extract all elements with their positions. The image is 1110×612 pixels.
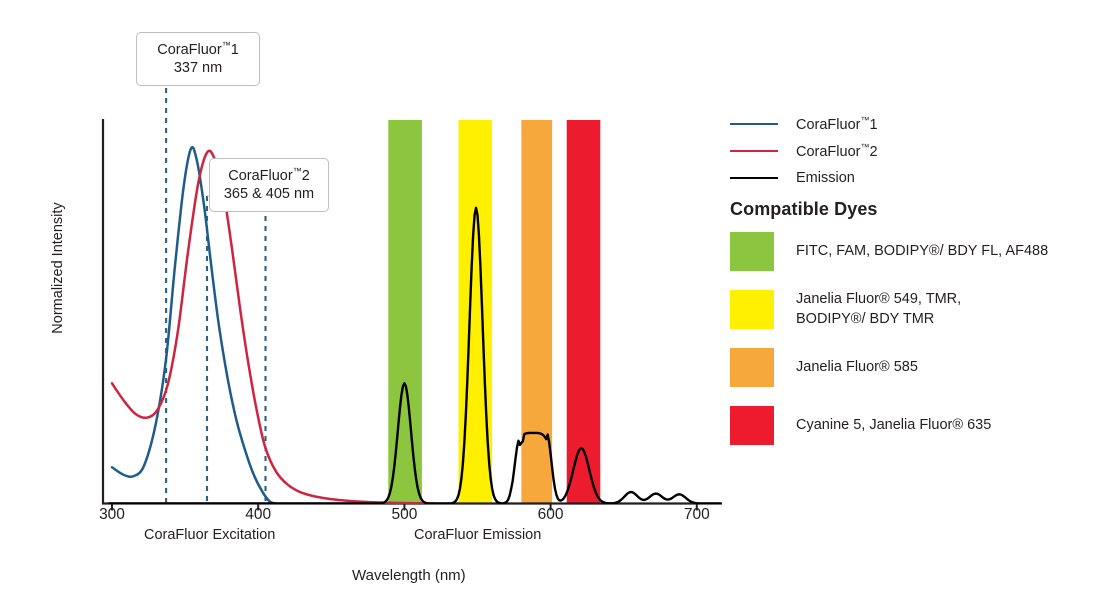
series-legend: CoraFluor™1CoraFluor™2Emission — [730, 110, 1100, 191]
dye-item-3[interactable]: Janelia Fluor® 585 — [730, 348, 1105, 387]
compatible-dyes-list: FITC, FAM, BODIPY®/ BDY FL, AF488Janelia… — [730, 232, 1105, 464]
callout-1-title: CoraFluor™1 — [147, 40, 249, 59]
green-band — [388, 120, 422, 504]
legend-item-3[interactable]: Emission — [730, 164, 1100, 191]
callout-1-value: 337 nm — [147, 59, 249, 77]
legend-item-label: CoraFluor™1 — [796, 115, 878, 133]
red-band — [567, 120, 601, 504]
dye-color-swatch — [730, 406, 774, 445]
x-tick-label-400: 400 — [245, 506, 271, 524]
legend-item-label: Emission — [796, 170, 855, 186]
x-tick-label-700: 700 — [684, 506, 710, 524]
legend-label-main: CoraFluor — [796, 143, 860, 159]
dye-item-label: FITC, FAM, BODIPY®/ BDY FL, AF488 — [796, 242, 1048, 262]
dye-color-swatch — [730, 290, 774, 329]
annotation-callout-coraFluor1: CoraFluor™1 337 nm — [136, 32, 260, 86]
dye-item-4[interactable]: Cyanine 5, Janelia Fluor® 635 — [730, 406, 1105, 445]
dye-label-line1: Janelia Fluor® 549, TMR, — [796, 290, 961, 310]
legend-item-label: CoraFluor™2 — [796, 142, 878, 160]
compatible-dyes-heading: Compatible Dyes — [730, 199, 878, 220]
orange-band — [521, 120, 552, 504]
x-tick-label-600: 600 — [538, 506, 564, 524]
dye-item-1[interactable]: FITC, FAM, BODIPY®/ BDY FL, AF488 — [730, 232, 1105, 271]
legend-line-swatch — [730, 177, 778, 179]
dye-label-line1: FITC, FAM, BODIPY®/ BDY FL, AF488 — [796, 242, 1048, 262]
x-tick-label-500: 500 — [391, 506, 417, 524]
dye-item-label: Cyanine 5, Janelia Fluor® 635 — [796, 416, 991, 436]
legend-label-number: 1 — [869, 116, 877, 132]
figure-spectra-chart: CoraFluor™1 337 nm CoraFluor™2 365 & 405… — [0, 0, 1110, 612]
dye-label-line2: BODIPY®/ BDY TMR — [796, 310, 961, 330]
legend-label-main: Emission — [796, 170, 855, 186]
x-region-label-emission: CoraFluor Emission — [414, 527, 541, 543]
dye-color-swatch — [730, 232, 774, 271]
dye-label-line1: Cyanine 5, Janelia Fluor® 635 — [796, 416, 991, 436]
dye-item-2[interactable]: Janelia Fluor® 549, TMR,BODIPY®/ BDY TMR — [730, 290, 1105, 329]
legend-line-swatch — [730, 150, 778, 152]
x-tick-label-300: 300 — [99, 506, 125, 524]
emission-bands — [388, 120, 600, 504]
legend-item-2[interactable]: CoraFluor™2 — [730, 137, 1100, 164]
legend-item-1[interactable]: CoraFluor™1 — [730, 110, 1100, 137]
legend-label-number: 2 — [869, 143, 877, 159]
dye-label-line1: Janelia Fluor® 585 — [796, 358, 918, 378]
x-axis-title: Wavelength (nm) — [352, 567, 466, 584]
y-axis-title: Normalized Intensity — [50, 178, 66, 358]
dye-color-swatch — [730, 348, 774, 387]
x-region-label-excitation: CoraFluor Excitation — [144, 527, 275, 543]
dye-item-label: Janelia Fluor® 585 — [796, 358, 918, 378]
legend-label-main: CoraFluor — [796, 116, 860, 132]
legend-line-swatch — [730, 123, 778, 125]
annotation-callout-coraFluor2: CoraFluor™2 365 & 405 nm — [209, 158, 329, 212]
callout-2-title: CoraFluor™2 — [220, 166, 318, 185]
callout-2-value: 365 & 405 nm — [220, 185, 318, 203]
dye-item-label: Janelia Fluor® 549, TMR,BODIPY®/ BDY TMR — [796, 290, 961, 329]
